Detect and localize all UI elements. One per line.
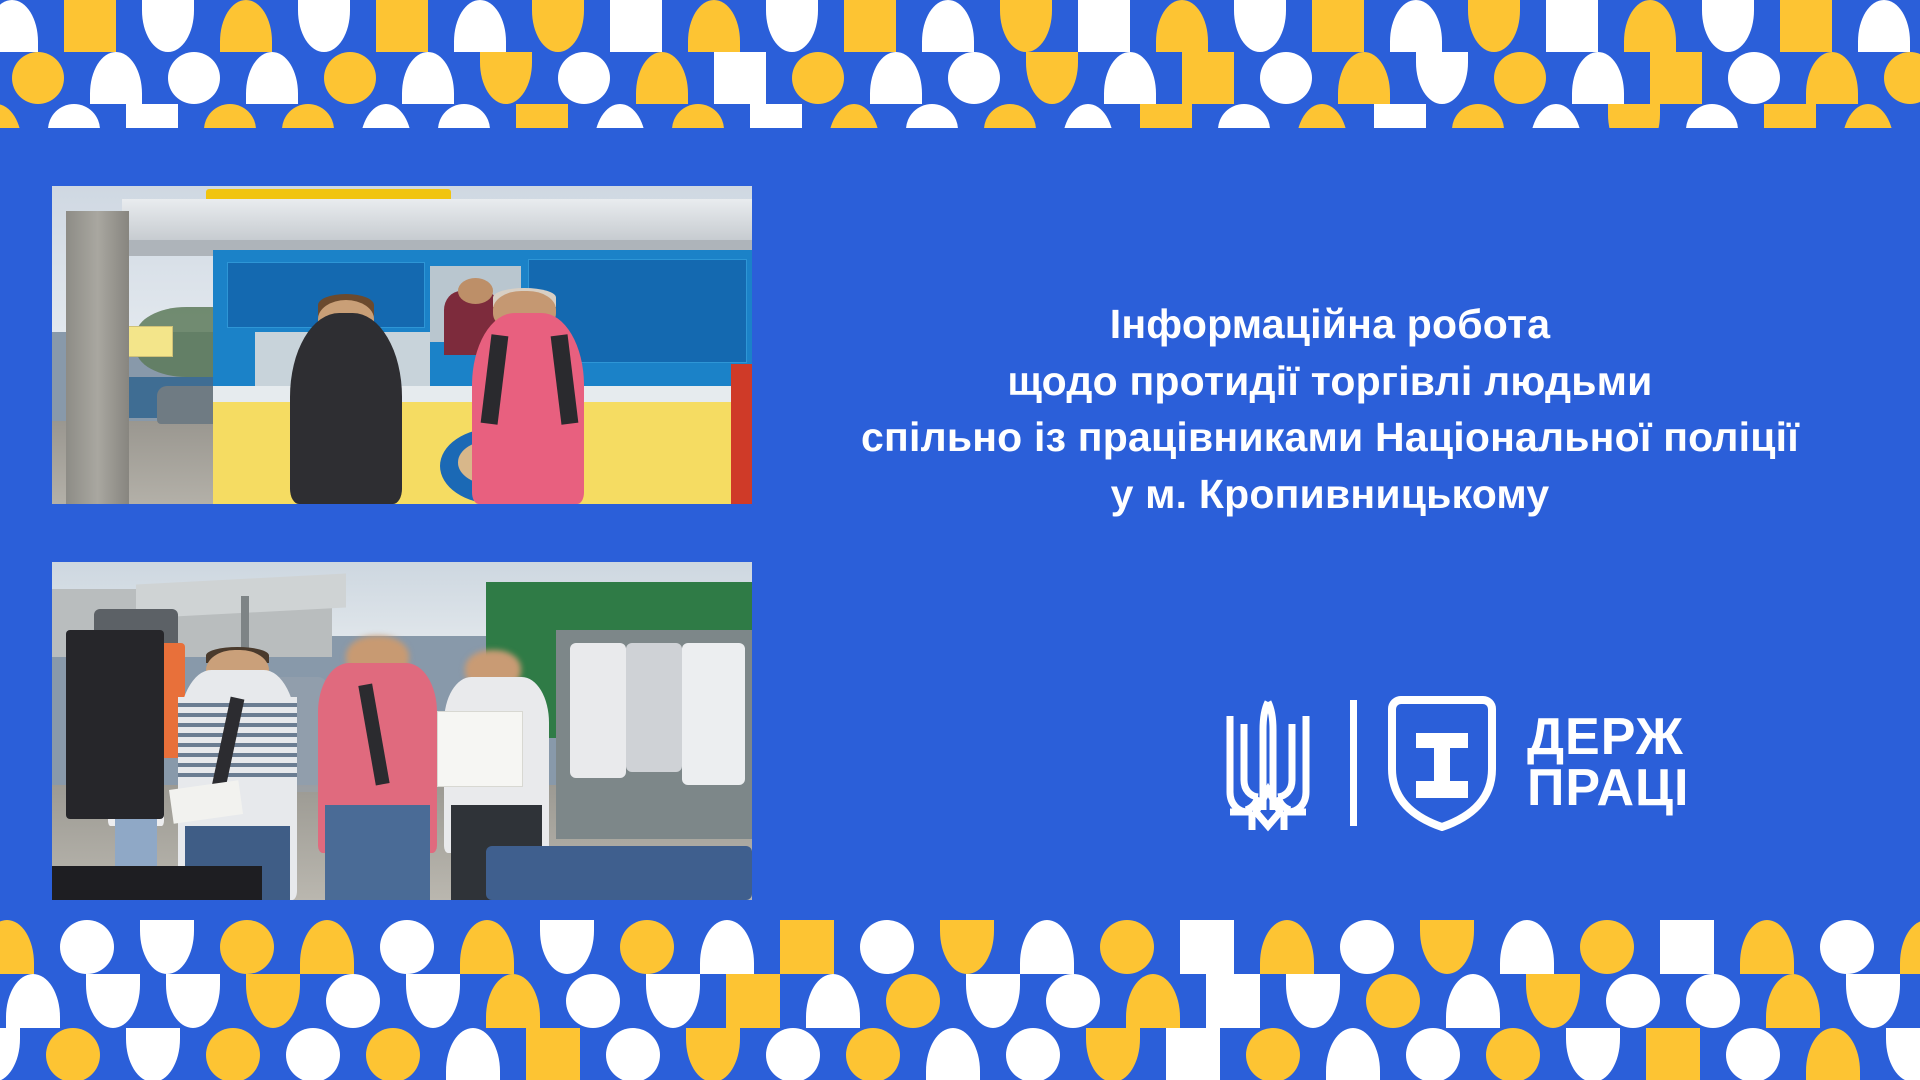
pattern-cell [558, 52, 610, 104]
pattern-cell [1726, 1028, 1780, 1080]
pattern-shape-arch-up [1740, 920, 1794, 974]
pattern-shape-circle [672, 104, 724, 128]
pattern-cell [140, 920, 194, 974]
pattern-cell [1000, 0, 1052, 52]
pattern-shape-square [64, 0, 116, 52]
pattern-shape-pill [286, 1028, 340, 1080]
pattern-cell [380, 920, 434, 974]
pattern-cell [126, 104, 178, 128]
pattern-shape-arch-down [1608, 104, 1660, 128]
pattern-shape-arch-down [166, 974, 220, 1028]
pattern-cell [1886, 1028, 1920, 1080]
pattern-cell [220, 920, 274, 974]
pattern-cell [828, 104, 880, 128]
pattern-cell [966, 974, 1020, 1028]
pattern-shape-circle [438, 104, 490, 128]
pattern-shape-square [1182, 52, 1234, 104]
pattern-shape-square [726, 974, 780, 1028]
pattern-shape-arch-down [646, 974, 700, 1028]
pattern-cell [46, 1028, 100, 1080]
pattern-cell [1606, 974, 1660, 1028]
pattern-cell [86, 974, 140, 1028]
pattern-cell [366, 1028, 420, 1080]
pattern-shape-arch-down [142, 0, 194, 52]
pattern-cell [1374, 104, 1426, 128]
pattern-shape-square [1140, 104, 1192, 128]
pattern-shape-arch-down [1086, 1028, 1140, 1080]
pattern-cell [1806, 52, 1858, 104]
pattern-cell [1580, 920, 1634, 974]
pattern-cell [1608, 104, 1660, 128]
pattern-shape-arch-down [1026, 52, 1078, 104]
pattern-shape-pill [1046, 974, 1100, 1028]
pattern-row [0, 1028, 1920, 1080]
pattern-cell [726, 974, 780, 1028]
pattern-cell [1452, 104, 1504, 128]
pattern-cell [1026, 52, 1078, 104]
pattern-cell [206, 1028, 260, 1080]
headline-line-4: у м. Кропивницькому [800, 466, 1860, 523]
pattern-cell [168, 52, 220, 104]
pattern-cell [806, 974, 860, 1028]
pattern-cell [324, 52, 376, 104]
pattern-cell [540, 920, 594, 974]
pattern-cell [0, 920, 34, 974]
pattern-shape-arch-up [460, 920, 514, 974]
pattern-shape-arch-down [126, 1028, 180, 1080]
pattern-cell [204, 104, 256, 128]
logo-wordmark: ДЕРЖ ПРАЦІ [1527, 712, 1689, 814]
headline-line-2: щодо протидії торгівлі людьми [800, 353, 1860, 410]
pattern-cell [300, 920, 354, 974]
pattern-shape-arch-up [1624, 0, 1676, 52]
pattern-cell [1884, 52, 1920, 104]
pattern-cell [1728, 52, 1780, 104]
pattern-cell [1020, 920, 1074, 974]
pattern-cell [246, 974, 300, 1028]
pattern-shape-arch-up [0, 0, 38, 52]
pattern-shape-arch-down [246, 974, 300, 1028]
pattern-shape-square [376, 0, 428, 52]
pattern-shape-circle [860, 920, 914, 974]
pattern-cell [1086, 1028, 1140, 1080]
pattern-cell [360, 104, 412, 128]
pattern-cell [1842, 104, 1894, 128]
pattern-shape-circle [1100, 920, 1154, 974]
pattern-shape-square [1206, 974, 1260, 1028]
pattern-cell [1702, 0, 1754, 52]
pattern-shape-arch-up [246, 52, 298, 104]
pattern-shape-arch-up [1446, 974, 1500, 1028]
pattern-cell [48, 104, 100, 128]
pattern-cell [246, 52, 298, 104]
pattern-cell [454, 0, 506, 52]
pattern-shape-circle [1246, 1028, 1300, 1080]
pattern-cell [142, 0, 194, 52]
pattern-cell [326, 974, 380, 1028]
pattern-cell [922, 0, 974, 52]
pattern-shape-arch-down [1416, 52, 1468, 104]
pattern-cell [1104, 52, 1156, 104]
pattern-cell [766, 0, 818, 52]
pattern-shape-square [1180, 920, 1234, 974]
pattern-cell [282, 104, 334, 128]
pattern-cell [1156, 0, 1208, 52]
pattern-cell [486, 974, 540, 1028]
pattern-cell [1296, 104, 1348, 128]
pattern-cell [688, 0, 740, 52]
pattern-cell [700, 920, 754, 974]
pattern-row [6, 974, 1920, 1028]
pattern-shape-circle [1686, 974, 1740, 1028]
pattern-cell [402, 52, 454, 104]
pattern-cell [1500, 920, 1554, 974]
pattern-cell [526, 1028, 580, 1080]
pattern-cell [1206, 974, 1260, 1028]
pattern-cell [870, 52, 922, 104]
pattern-cell [1650, 52, 1702, 104]
photo-shawarma-kiosk [52, 186, 752, 504]
pattern-cell [1820, 920, 1874, 974]
pattern-cell [376, 0, 428, 52]
pattern-shape-arch-up [636, 52, 688, 104]
decorative-pattern-bottom [0, 920, 1920, 1080]
pattern-shape-circle [204, 104, 256, 128]
pattern-cell [906, 104, 958, 128]
pattern-row [0, 920, 1920, 974]
pattern-shape-circle [1366, 974, 1420, 1028]
pattern-shape-circle [1006, 1028, 1060, 1080]
pattern-shape-circle [1452, 104, 1504, 128]
pattern-cell [1766, 974, 1820, 1028]
pattern-shape-circle [1580, 920, 1634, 974]
pattern-cell [90, 52, 142, 104]
logo-word-derzh: ДЕРЖ [1527, 712, 1689, 763]
pattern-shape-arch-up [300, 920, 354, 974]
ukrainian-trident-icon [1212, 694, 1324, 832]
pattern-shape-square [1646, 1028, 1700, 1080]
pattern-shape-circle [948, 52, 1000, 104]
pattern-cell [766, 1028, 820, 1080]
pattern-cell [1246, 1028, 1300, 1080]
pattern-shape-square [714, 52, 766, 104]
pattern-cell [1180, 920, 1234, 974]
pattern-row [12, 52, 1920, 104]
pattern-shape-circle [792, 52, 844, 104]
pattern-cell [438, 104, 490, 128]
pattern-cell [516, 104, 568, 128]
derzhpratsi-logo-lockup: ДЕРЖ ПРАЦІ [1212, 692, 1772, 834]
pattern-shape-circle [168, 52, 220, 104]
pattern-cell [610, 0, 662, 52]
pattern-shape-arch-up [926, 1028, 980, 1080]
pattern-shape-arch-up [1260, 920, 1314, 974]
pattern-cell [846, 1028, 900, 1080]
pattern-shape-square [844, 0, 896, 52]
pattern-cell [1846, 974, 1900, 1028]
logo-divider [1350, 700, 1357, 826]
pattern-shape-arch-down [0, 1028, 20, 1080]
pattern-cell [940, 920, 994, 974]
pattern-shape-circle [1686, 104, 1738, 128]
pattern-row [0, 104, 1920, 128]
pattern-cell [606, 1028, 660, 1080]
pattern-shape-circle [984, 104, 1036, 128]
pattern-shape-arch-up [1104, 52, 1156, 104]
pattern-shape-arch-down [140, 920, 194, 974]
pattern-shape-arch-up [1806, 52, 1858, 104]
pattern-cell [1566, 1028, 1620, 1080]
pattern-shape-arch-down [480, 52, 532, 104]
pattern-shape-circle [906, 104, 958, 128]
pattern-cell [480, 52, 532, 104]
headline-line-1: Інформаційна робота [800, 296, 1860, 353]
pattern-cell [1780, 0, 1832, 52]
pattern-shape-arch-down [532, 0, 584, 52]
pattern-shape-arch-down [1566, 1028, 1620, 1080]
logo-word-pratsi: ПРАЦІ [1527, 763, 1689, 814]
pattern-cell [780, 920, 834, 974]
pattern-shape-arch-down [1286, 974, 1340, 1028]
pattern-cell [714, 52, 766, 104]
derzhpratsi-shield-icon [1383, 695, 1501, 831]
pattern-cell [1468, 0, 1520, 52]
pattern-cell [1326, 1028, 1380, 1080]
pattern-cell [12, 52, 64, 104]
pattern-shape-arch-down [766, 0, 818, 52]
pattern-shape-square [526, 1028, 580, 1080]
pattern-shape-circle [620, 920, 674, 974]
pattern-shape-square [1660, 920, 1714, 974]
pattern-shape-arch-up [1020, 920, 1074, 974]
pattern-shape-square [610, 0, 662, 52]
pattern-cell [1406, 1028, 1460, 1080]
pattern-shape-pill [1406, 1028, 1460, 1080]
pattern-shape-circle [1260, 52, 1312, 104]
pattern-cell [1494, 52, 1546, 104]
pattern-cell [1526, 974, 1580, 1028]
pattern-cell [460, 920, 514, 974]
pattern-shape-circle [1820, 920, 1874, 974]
pattern-shape-circle [566, 974, 620, 1028]
pattern-shape-square [516, 104, 568, 128]
pattern-shape-arch-down [1702, 0, 1754, 52]
pattern-shape-arch-up [402, 52, 454, 104]
pattern-shape-circle [60, 920, 114, 974]
pattern-shape-square [1650, 52, 1702, 104]
pattern-cell [1340, 920, 1394, 974]
pattern-shape-arch-up [1530, 104, 1582, 128]
pattern-cell [1486, 1028, 1540, 1080]
pattern-cell [1446, 974, 1500, 1028]
pattern-cell [1260, 52, 1312, 104]
pattern-shape-arch-up [1900, 920, 1920, 974]
pattern-cell [1312, 0, 1364, 52]
pattern-shape-arch-down [1000, 0, 1052, 52]
pattern-cell [860, 920, 914, 974]
pattern-cell [686, 1028, 740, 1080]
pattern-shape-arch-up [1766, 974, 1820, 1028]
pattern-cell [948, 52, 1000, 104]
pattern-cell [620, 920, 674, 974]
pattern-shape-arch-up [922, 0, 974, 52]
pattern-shape-pill [326, 974, 380, 1028]
pattern-shape-arch-up [446, 1028, 500, 1080]
pattern-shape-circle [1728, 52, 1780, 104]
pattern-shape-arch-up [454, 0, 506, 52]
pattern-shape-arch-up [1842, 104, 1894, 128]
pattern-cell [532, 0, 584, 52]
pattern-shape-square [1764, 104, 1816, 128]
pattern-cell [926, 1028, 980, 1080]
pattern-cell [60, 920, 114, 974]
pattern-shape-circle [1494, 52, 1546, 104]
pattern-shape-arch-up [1390, 0, 1442, 52]
photo-market-leaflets [52, 562, 752, 900]
pattern-shape-arch-up [0, 104, 22, 128]
pattern-shape-square [1166, 1028, 1220, 1080]
pattern-shape-arch-up [1338, 52, 1390, 104]
pattern-shape-circle [12, 52, 64, 104]
pattern-shape-square [1780, 0, 1832, 52]
pattern-cell [886, 974, 940, 1028]
pattern-shape-circle [558, 52, 610, 104]
pattern-shape-arch-up [1126, 974, 1180, 1028]
pattern-shape-circle [606, 1028, 660, 1080]
pattern-shape-arch-down [540, 920, 594, 974]
pattern-shape-pill [1606, 974, 1660, 1028]
pattern-shape-arch-up [1296, 104, 1348, 128]
pattern-cell [792, 52, 844, 104]
pattern-shape-arch-down [686, 1028, 740, 1080]
pattern-cell [1546, 0, 1598, 52]
pattern-cell [1338, 52, 1390, 104]
pattern-shape-square [750, 104, 802, 128]
pattern-shape-arch-up [700, 920, 754, 974]
pattern-shape-circle [324, 52, 376, 104]
pattern-shape-arch-down [1526, 974, 1580, 1028]
pattern-shape-square [1546, 0, 1598, 52]
pattern-cell [1624, 0, 1676, 52]
pattern-shape-square [1078, 0, 1130, 52]
pattern-cell [1686, 974, 1740, 1028]
headline-line-3: спільно із працівниками Національної пол… [800, 409, 1860, 466]
pattern-shape-arch-down [1468, 0, 1520, 52]
pattern-cell [1126, 974, 1180, 1028]
pattern-shape-arch-up [220, 0, 272, 52]
pattern-cell [636, 52, 688, 104]
pattern-shape-arch-up [806, 974, 860, 1028]
pattern-cell [646, 974, 700, 1028]
pattern-shape-arch-up [1858, 0, 1910, 52]
pattern-cell [672, 104, 724, 128]
pattern-cell [594, 104, 646, 128]
pattern-shape-arch-down [298, 0, 350, 52]
pattern-cell [566, 974, 620, 1028]
pattern-shape-arch-up [90, 52, 142, 104]
pattern-shape-arch-up [1806, 1028, 1860, 1080]
pattern-cell [1366, 974, 1420, 1028]
pattern-shape-circle [366, 1028, 420, 1080]
pattern-shape-circle [48, 104, 100, 128]
pattern-shape-arch-up [594, 104, 646, 128]
pattern-cell [1006, 1028, 1060, 1080]
pattern-cell [64, 0, 116, 52]
pattern-cell [1900, 920, 1920, 974]
pattern-cell [166, 974, 220, 1028]
pattern-shape-arch-up [6, 974, 60, 1028]
pattern-cell [0, 1028, 20, 1080]
pattern-shape-circle [1884, 52, 1920, 104]
pattern-cell [1286, 974, 1340, 1028]
pattern-cell [984, 104, 1036, 128]
pattern-cell [1740, 920, 1794, 974]
pattern-cell [298, 0, 350, 52]
pattern-cell [1416, 52, 1468, 104]
pattern-shape-circle [1218, 104, 1270, 128]
pattern-cell [1420, 920, 1474, 974]
pattern-shape-pill [766, 1028, 820, 1080]
pattern-shape-arch-up [1572, 52, 1624, 104]
headline-block: Інформаційна робота щодо протидії торгів… [800, 296, 1860, 522]
pattern-cell [1166, 1028, 1220, 1080]
pattern-cell [750, 104, 802, 128]
poster-canvas: Інформаційна робота щодо протидії торгів… [0, 0, 1920, 1080]
pattern-shape-circle [206, 1028, 260, 1080]
pattern-shape-arch-up [486, 974, 540, 1028]
pattern-shape-arch-up [1500, 920, 1554, 974]
pattern-shape-circle [1486, 1028, 1540, 1080]
pattern-shape-circle [846, 1028, 900, 1080]
pattern-cell [1530, 104, 1582, 128]
pattern-cell [0, 104, 22, 128]
pattern-cell [286, 1028, 340, 1080]
pattern-shape-circle [46, 1028, 100, 1080]
pattern-shape-arch-down [406, 974, 460, 1028]
pattern-shape-square [780, 920, 834, 974]
pattern-shape-arch-down [940, 920, 994, 974]
pattern-shape-square [1312, 0, 1364, 52]
pattern-shape-arch-up [1326, 1028, 1380, 1080]
pattern-cell [1046, 974, 1100, 1028]
pattern-cell [1686, 104, 1738, 128]
pattern-cell [1100, 920, 1154, 974]
pattern-shape-arch-up [1062, 104, 1114, 128]
pattern-shape-arch-down [1420, 920, 1474, 974]
pattern-shape-circle [1726, 1028, 1780, 1080]
pattern-cell [406, 974, 460, 1028]
pattern-cell [1078, 0, 1130, 52]
pattern-shape-arch-up [870, 52, 922, 104]
pattern-shape-circle [380, 920, 434, 974]
decorative-pattern-top [0, 0, 1920, 128]
pattern-shape-arch-up [1156, 0, 1208, 52]
pattern-shape-arch-up [360, 104, 412, 128]
pattern-cell [446, 1028, 500, 1080]
pattern-shape-arch-up [0, 920, 34, 974]
pattern-cell [1062, 104, 1114, 128]
pattern-shape-arch-down [1846, 974, 1900, 1028]
pattern-cell [126, 1028, 180, 1080]
pattern-cell [1390, 0, 1442, 52]
pattern-shape-circle [886, 974, 940, 1028]
pattern-cell [844, 0, 896, 52]
pattern-cell [1182, 52, 1234, 104]
pattern-cell [1764, 104, 1816, 128]
pattern-shape-arch-up [828, 104, 880, 128]
pattern-cell [1858, 0, 1910, 52]
pattern-shape-arch-down [966, 974, 1020, 1028]
